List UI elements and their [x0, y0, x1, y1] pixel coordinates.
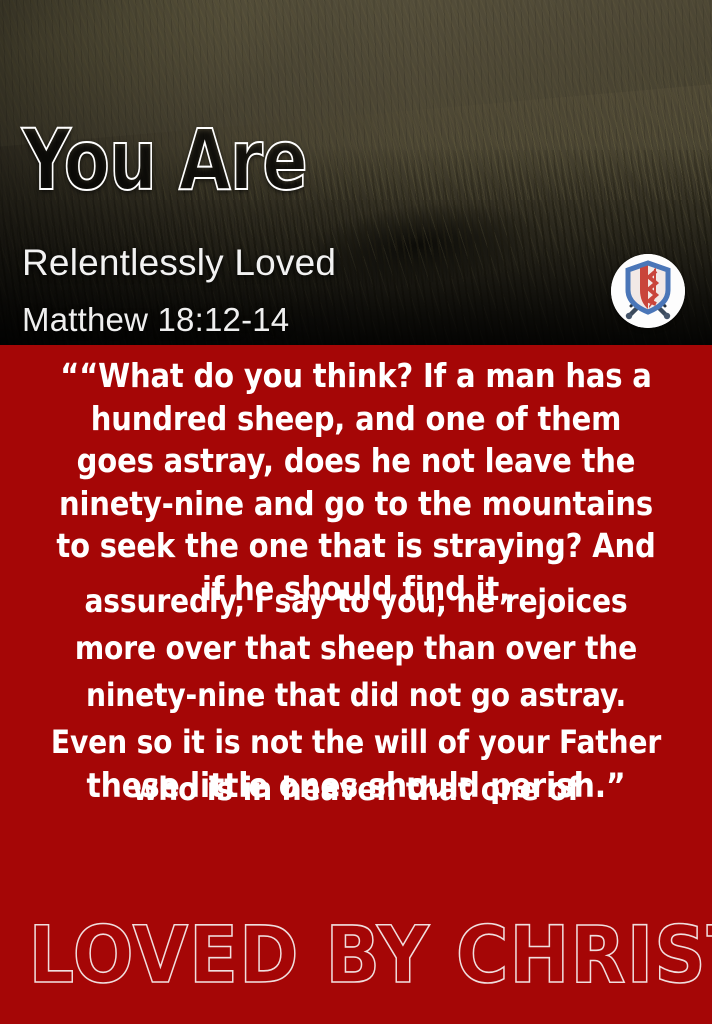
scripture-reference: Matthew 18:12-14 [22, 302, 289, 338]
logo-badge [611, 254, 685, 328]
poster-root: You Are Relentlessly Loved Matthew 18:12… [0, 0, 712, 1024]
page-title: You Are [22, 118, 307, 202]
shield-swords-icon [611, 254, 685, 328]
page-subtitle: Relentlessly Loved [22, 243, 336, 283]
verse-paragraph-3: these little ones should perish.” [50, 765, 662, 807]
verse-paragraph-1: ““What do you think? If a man has a hund… [50, 355, 662, 610]
bottom-banner-text: LOVED BY CHRIST [28, 915, 683, 997]
